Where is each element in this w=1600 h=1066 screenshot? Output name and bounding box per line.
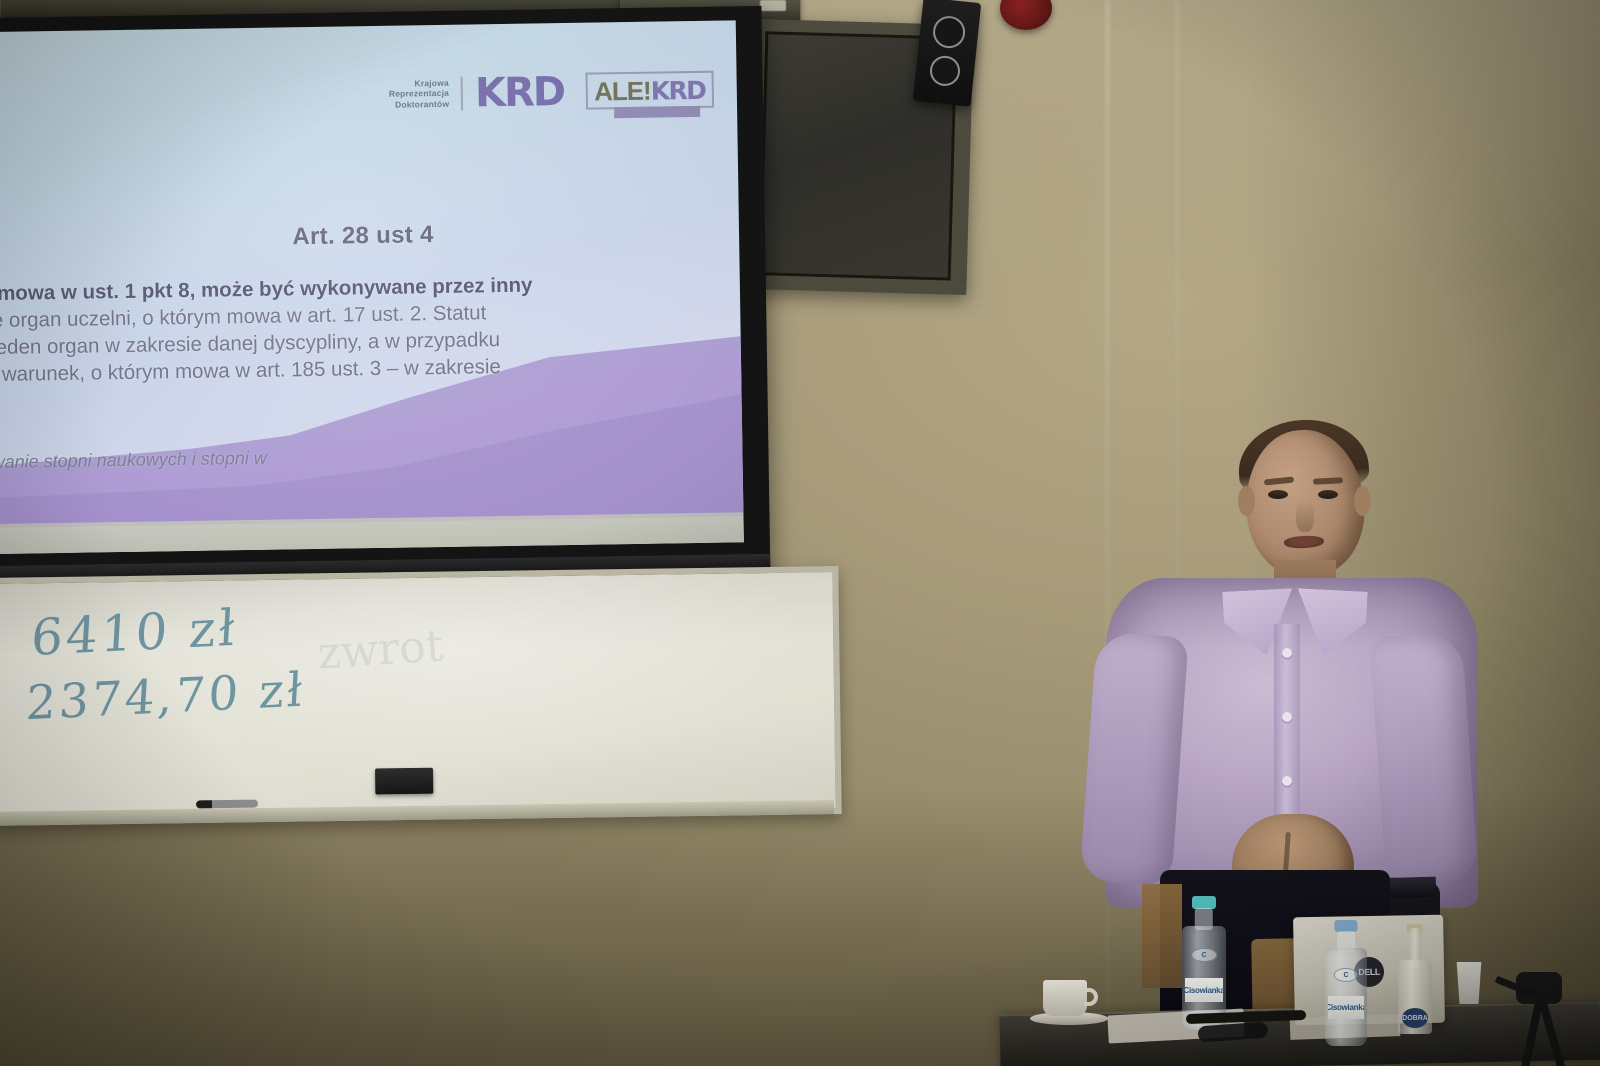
ale-krd-logo: ALE! KRD xyxy=(586,71,714,110)
water-bottle-1: C Cisowianka xyxy=(1182,896,1226,1030)
whiteboard: zwrot 6410 zł 2374,70 zł xyxy=(0,566,842,826)
presentation-slide: Krajowa Reprezentacja Doktorantów KRD AL… xyxy=(0,20,744,554)
shirt-button-2 xyxy=(1282,712,1292,722)
krd-logo-mark: KRD xyxy=(475,74,565,111)
tripod-leg-2 xyxy=(1539,1000,1566,1066)
speaker-cone-top-icon xyxy=(932,15,967,50)
presenter-eye-left xyxy=(1268,490,1288,499)
whiteboard-note-line-1: 6410 zł xyxy=(30,599,240,667)
projection-screen: Krajowa Reprezentacja Doktorantów KRD AL… xyxy=(0,6,770,588)
whiteboard-marker xyxy=(196,800,258,809)
presenter-ear-right xyxy=(1354,486,1371,516)
glass-mineral-bottle: DOBRA xyxy=(1398,928,1432,1034)
wall-speaker xyxy=(913,0,982,107)
presenter-arm-left xyxy=(1079,631,1188,887)
coffee-cup xyxy=(1043,980,1087,1016)
plastic-cup xyxy=(1455,962,1483,1004)
krd-wordmark-text: Krajowa Reprezentacja Doktorantów xyxy=(389,78,450,110)
camera-tripod xyxy=(1490,946,1600,1066)
presenter-eye-right xyxy=(1318,490,1338,499)
projector-indicator-icon xyxy=(760,0,786,11)
shirt-button-1 xyxy=(1282,648,1292,658)
speaker-cone-bottom-icon xyxy=(929,54,962,87)
krd-logo-divider xyxy=(461,76,464,110)
presenter-nose xyxy=(1296,500,1314,532)
krd-line-2: Reprezentacja xyxy=(389,88,449,99)
conference-room-photo: Krajowa Reprezentacja Doktorantów KRD AL… xyxy=(0,0,1600,1066)
wooden-chair-back-left xyxy=(1142,884,1182,988)
ale-logo-mark: KRD xyxy=(650,76,705,106)
presenter-arm-right xyxy=(1369,631,1478,887)
slide-heading: Art. 28 ust 4 xyxy=(0,216,739,256)
bottle-label-2: Cisowianka xyxy=(1328,996,1365,1019)
bottle-label-1: Cisowianka xyxy=(1185,978,1224,1002)
whiteboard-erased-marks: zwrot xyxy=(316,620,445,679)
ale-logo-prefix: ALE! xyxy=(594,76,651,108)
water-bottle-2: C Cisowianka xyxy=(1325,920,1367,1046)
whiteboard-eraser xyxy=(375,768,433,795)
slide-body-text: danie, o którym mowa w ust. 1 pkt 8, moż… xyxy=(0,269,698,417)
presenter-ear-left xyxy=(1238,486,1255,516)
slide-logo-row: Krajowa Reprezentacja Doktorantów KRD AL… xyxy=(389,71,714,113)
ale-logo-bar xyxy=(614,106,700,118)
bottle-logo-ring-1: C xyxy=(1191,948,1217,962)
glass-bottle-badge: DOBRA xyxy=(1402,1008,1428,1028)
krd-line-3: Doktorantów xyxy=(389,99,449,110)
shirt-button-3 xyxy=(1282,776,1292,786)
